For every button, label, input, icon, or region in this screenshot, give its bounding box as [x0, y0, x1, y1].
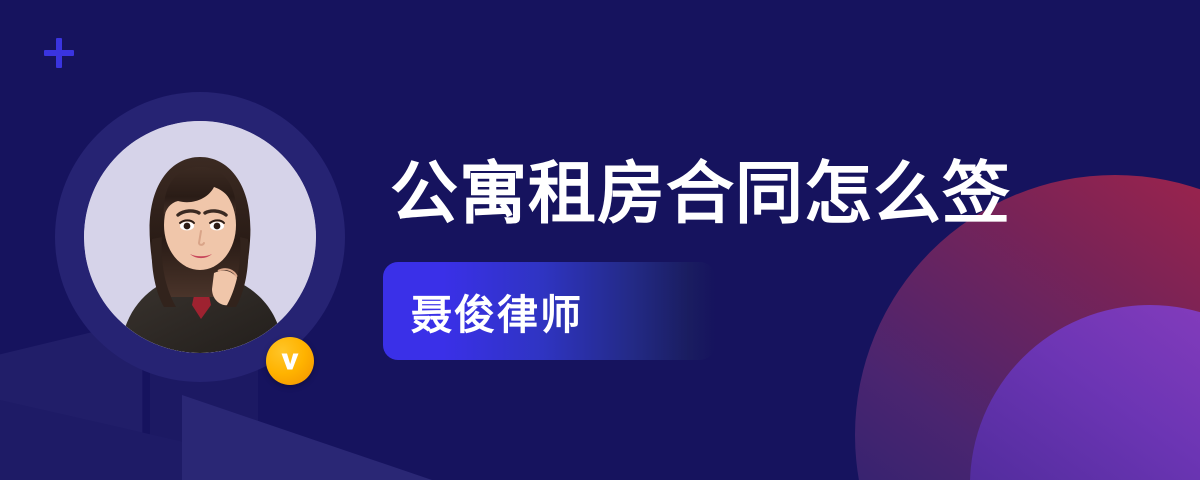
avatar-photo — [84, 121, 316, 353]
avatar — [55, 92, 345, 382]
lawyer-name-label: 聂俊律师 — [411, 281, 583, 341]
verified-badge-icon — [266, 337, 314, 385]
lawyer-topic-banner: 公寓租房合同怎么签 聂俊律师 — [0, 0, 1200, 480]
page-title: 公寓租房合同怎么签 — [390, 160, 1011, 228]
plus-icon — [44, 38, 74, 68]
lawyer-name-badge: 聂俊律师 — [383, 262, 715, 360]
